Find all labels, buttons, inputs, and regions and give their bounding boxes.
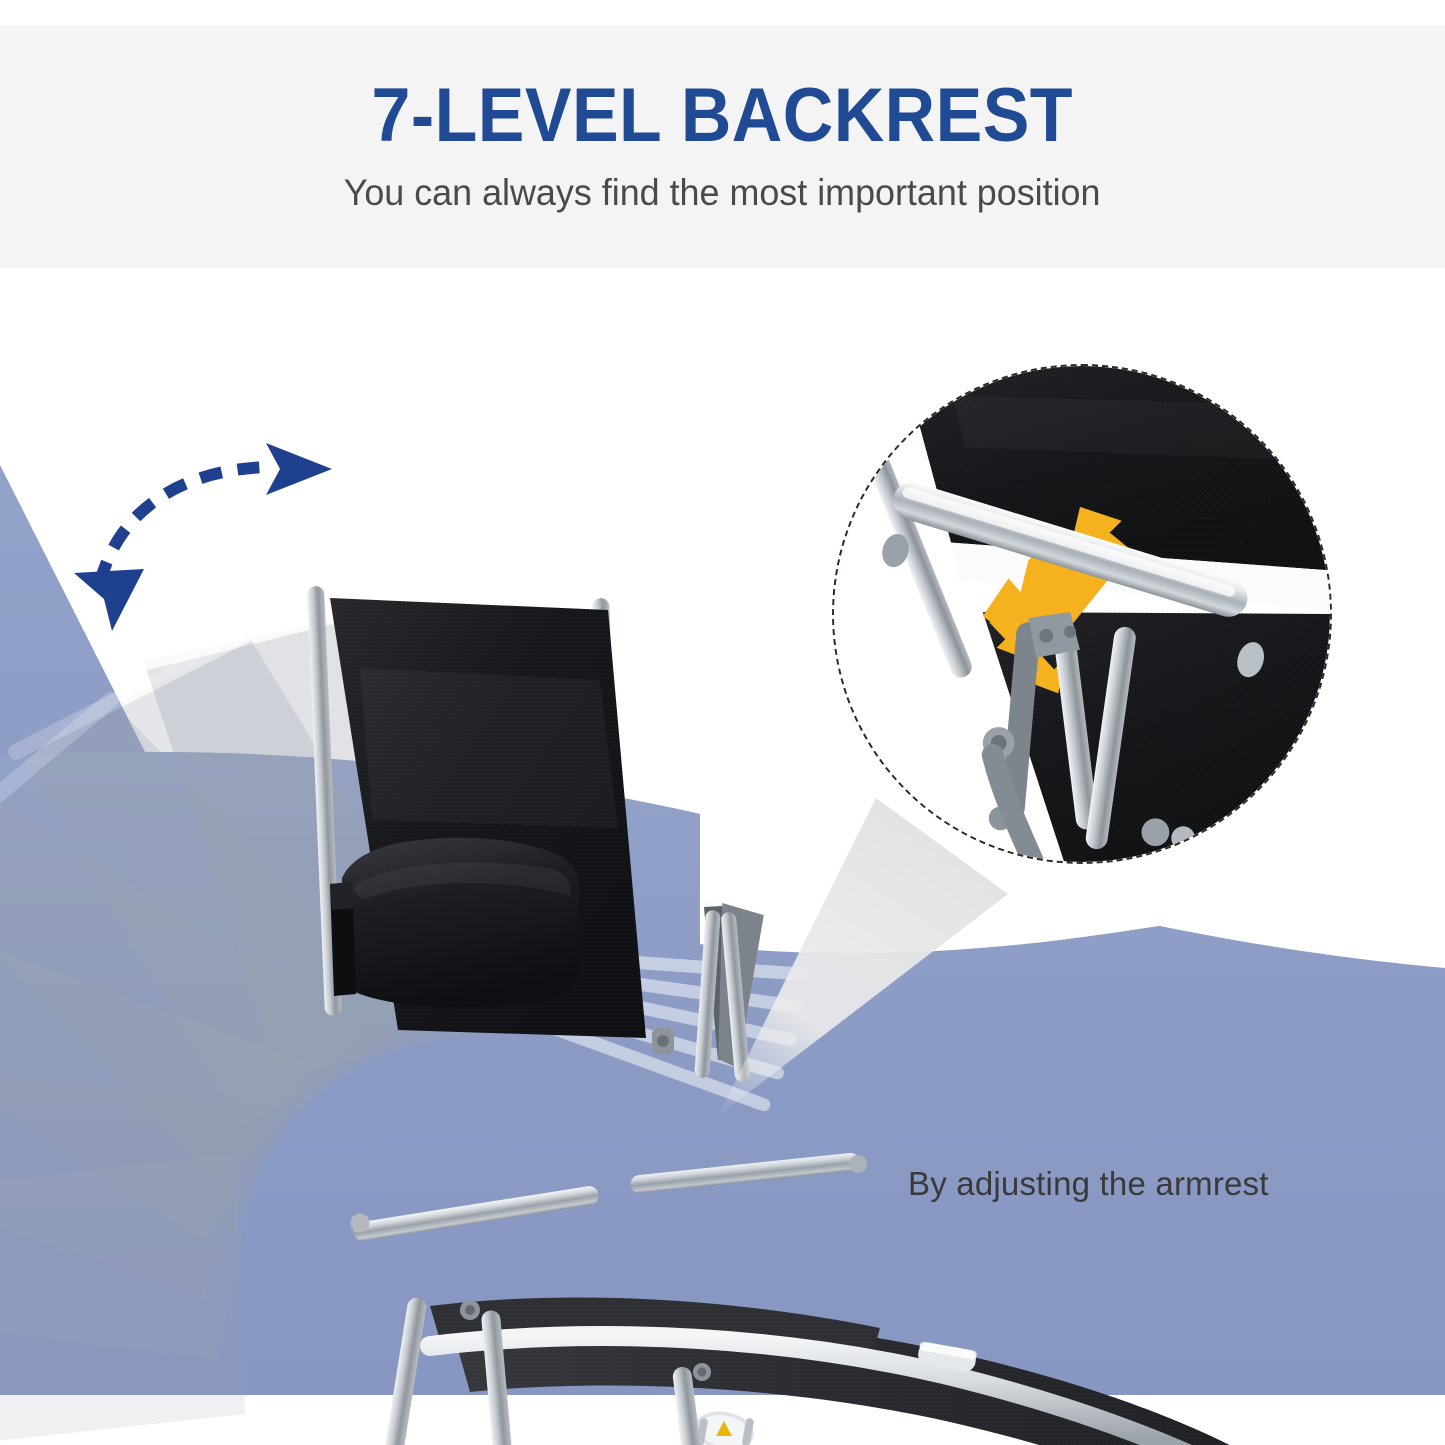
recline-range-arrow bbox=[60, 433, 400, 633]
detail-caption: By adjusting the armrest bbox=[908, 1165, 1328, 1203]
detail-callout-cone bbox=[690, 798, 1010, 1128]
page-title: 7-LEVEL BACKREST bbox=[372, 78, 1073, 154]
page-subtitle: You can always find the most important p… bbox=[344, 172, 1101, 215]
armrest-near bbox=[351, 1185, 601, 1243]
headrest-pillow bbox=[330, 838, 580, 1008]
armrest-detail-photo bbox=[834, 366, 1330, 862]
armrest-far bbox=[630, 1152, 867, 1194]
brand-badge bbox=[691, 1407, 757, 1445]
armrest-detail-inset bbox=[832, 364, 1332, 864]
product-scene: By adjusting the armrest bbox=[0, 268, 1445, 1445]
infographic-canvas: 7-LEVEL BACKREST You can always find the… bbox=[0, 0, 1445, 1445]
seat-footrest-panel bbox=[430, 1297, 1318, 1445]
header-band: 7-LEVEL BACKREST You can always find the… bbox=[0, 25, 1445, 268]
